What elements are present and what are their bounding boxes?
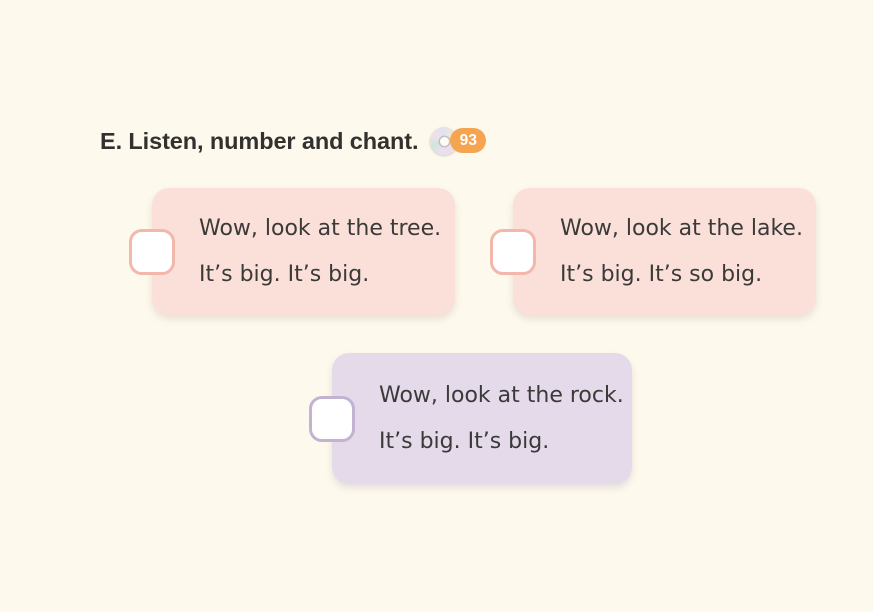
chant-card-rock: Wow, look at the rock. It’s big. It’s bi…	[332, 353, 632, 484]
chant-line: Wow, look at the tree.	[199, 216, 441, 242]
chant-lines-lake: Wow, look at the lake. It’s big. It’s so…	[560, 188, 803, 315]
answer-number-box-lake[interactable]	[490, 229, 536, 275]
chant-card-tree: Wow, look at the tree. It’s big. It’s bi…	[152, 188, 455, 315]
track-number-badge: 93	[450, 128, 486, 153]
chant-lines-tree: Wow, look at the tree. It’s big. It’s bi…	[199, 188, 441, 315]
chant-line: It’s big. It’s so big.	[560, 262, 803, 288]
worksheet-page: E. Listen, number and chant. 93 Wow, loo…	[0, 0, 873, 612]
chant-lines-rock: Wow, look at the rock. It’s big. It’s bi…	[379, 353, 624, 484]
answer-number-box-tree[interactable]	[129, 229, 175, 275]
chant-line: Wow, look at the lake.	[560, 216, 803, 242]
exercise-heading: E. Listen, number and chant. 93	[100, 124, 494, 158]
chant-line: Wow, look at the rock.	[379, 383, 624, 409]
chant-line: It’s big. It’s big.	[199, 262, 441, 288]
chant-line: It’s big. It’s big.	[379, 429, 624, 455]
answer-number-box-rock[interactable]	[309, 396, 355, 442]
audio-track-marker[interactable]: 93	[430, 126, 494, 156]
page-title: E. Listen, number and chant.	[100, 124, 418, 158]
chant-card-lake: Wow, look at the lake. It’s big. It’s so…	[513, 188, 816, 315]
